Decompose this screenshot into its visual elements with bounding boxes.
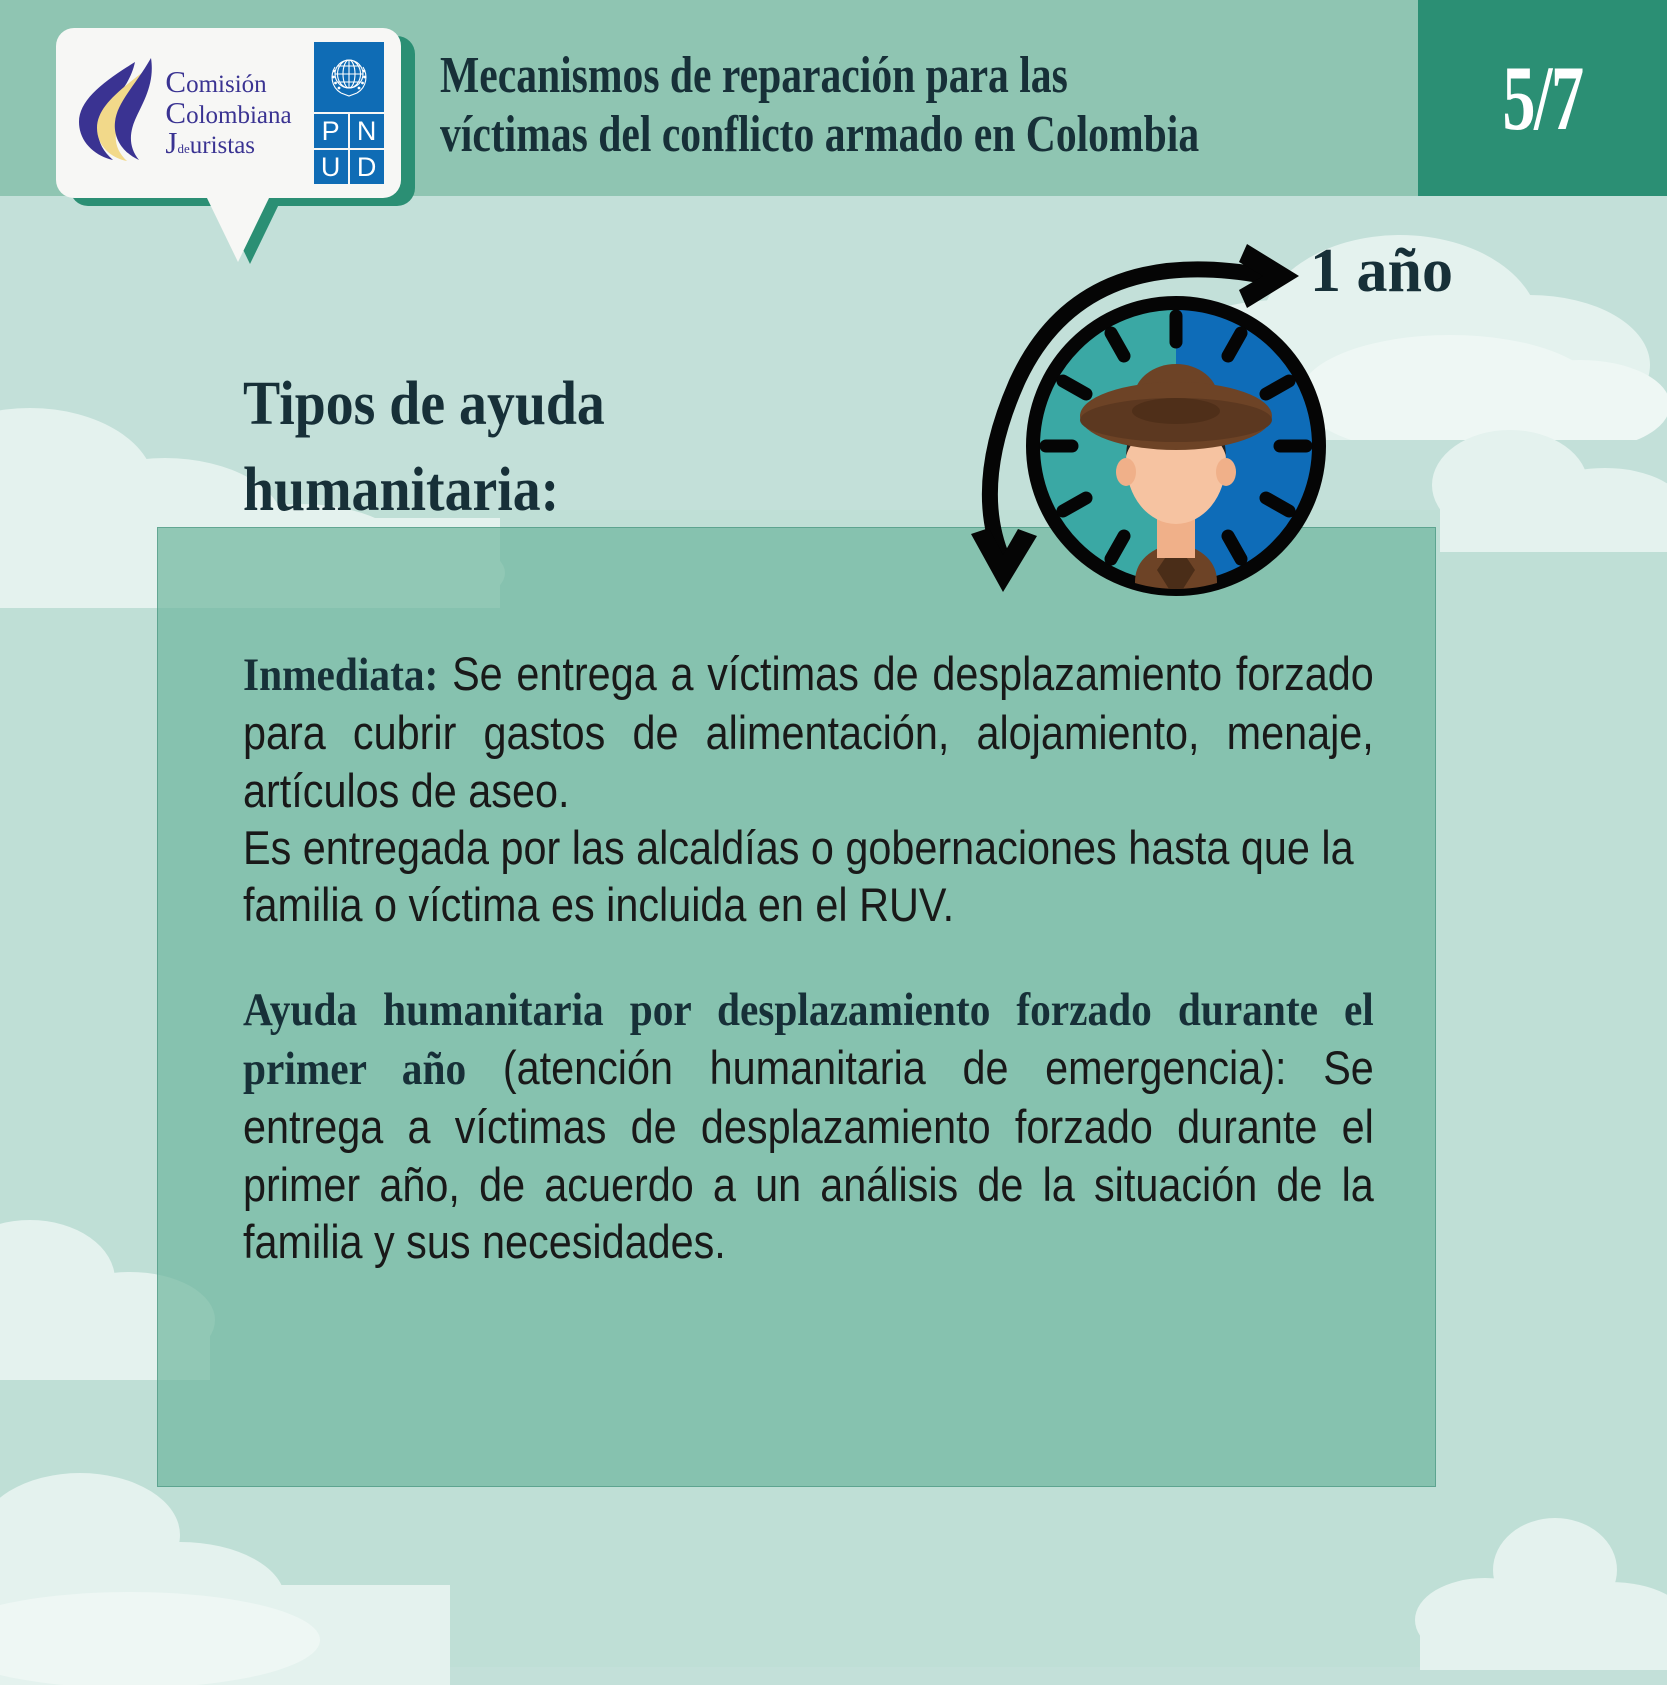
ccj-flame-icon: [73, 56, 159, 171]
ccj-line-3: Jdeuristas: [165, 128, 291, 159]
ccj-line-2: Colombiana: [165, 98, 291, 129]
pnud-letter-d: D: [350, 150, 384, 184]
header-title: Mecanismos de reparación para las víctim…: [440, 46, 1400, 165]
header-title-line1: Mecanismos de reparación para las: [440, 46, 1400, 105]
cloud-bottom-left: [0, 1465, 490, 1685]
logo-bubble: CComisiónomisión Colombiana Jdeuristas: [56, 28, 401, 198]
paragraph-inmediata-lead: Inmediata:: [243, 649, 438, 701]
year-label: 1 año: [1310, 240, 1453, 302]
paragraph-ayuda: Ayuda humanitaria por desplazamiento for…: [243, 980, 1374, 1271]
ccj-logo: CComisiónomisión Colombiana Jdeuristas: [73, 56, 291, 171]
paragraph-inmediata: Inmediata: Se entrega a víctimas de desp…: [243, 645, 1374, 819]
content-text: Inmediata: Se entrega a víctimas de desp…: [243, 645, 1374, 1270]
section-heading: Tipos de ayuda humanitaria:: [243, 362, 605, 533]
paragraph-inmediata-body2: Es entregada por las alcaldías o goberna…: [243, 819, 1374, 934]
pnud-letter-p: P: [314, 114, 348, 148]
cloud-bottom-right: [1395, 1510, 1667, 1670]
un-globe-laurel-icon: [314, 42, 384, 112]
page-counter: 5/7: [1453, 0, 1632, 196]
pnud-letter-u: U: [314, 150, 348, 184]
header-title-line2: víctimas del conflicto armado en Colombi…: [440, 105, 1400, 164]
arrow-head-down: [971, 528, 1037, 592]
pnud-logo: P N U D: [314, 42, 384, 184]
pnud-letter-n: N: [350, 114, 384, 148]
ccj-line-1: CComisiónomisión: [165, 67, 291, 98]
ccj-wordmark: CComisiónomisión Colombiana Jdeuristas: [165, 67, 291, 159]
